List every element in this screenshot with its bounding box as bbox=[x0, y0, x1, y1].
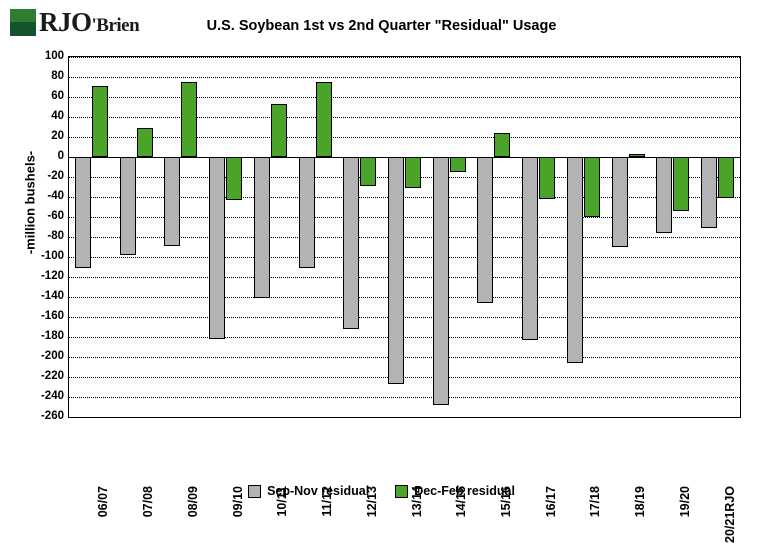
plot-area bbox=[68, 56, 741, 418]
y-tick-label: 40 bbox=[4, 110, 64, 122]
bar-15-16-dec-feb bbox=[494, 133, 510, 157]
legend-item[interactable]: Dec-Feb residual bbox=[395, 484, 515, 498]
bar-group bbox=[158, 57, 203, 417]
y-axis-tick-labels: 100806040200-20-40-60-80-100-120-140-160… bbox=[0, 56, 64, 418]
bar-14-15-sep-nov bbox=[433, 157, 449, 405]
y-tick-label: -40 bbox=[4, 190, 64, 202]
bar-19-20-sep-nov bbox=[656, 157, 672, 233]
x-axis-tick-labels: 06/0707/0808/0909/1010/1111/1212/1313/14… bbox=[68, 420, 741, 490]
y-tick-label: -20 bbox=[4, 170, 64, 182]
bar-07-08-sep-nov bbox=[120, 157, 136, 255]
bar-12-13-dec-feb bbox=[360, 157, 376, 186]
legend-label: Sep-Nov residual bbox=[267, 484, 369, 498]
bar-15-16-sep-nov bbox=[477, 157, 493, 303]
bar-20-21RJO-sep-nov bbox=[701, 157, 717, 228]
bar-13-14-sep-nov bbox=[388, 157, 404, 384]
chart-title: U.S. Soybean 1st vs 2nd Quarter "Residua… bbox=[0, 18, 763, 34]
y-tick-label: 100 bbox=[4, 50, 64, 62]
legend-swatch bbox=[248, 485, 261, 498]
y-tick-label: -100 bbox=[4, 250, 64, 262]
y-tick-label: 0 bbox=[4, 150, 64, 162]
bar-09-10-sep-nov bbox=[209, 157, 225, 339]
legend-label: Dec-Feb residual bbox=[414, 484, 515, 498]
chart-legend: Sep-Nov residualDec-Feb residual bbox=[0, 484, 763, 498]
bar-group bbox=[69, 57, 114, 417]
bar-10-11-sep-nov bbox=[254, 157, 270, 298]
bar-06-07-sep-nov bbox=[75, 157, 91, 268]
y-tick-label: -120 bbox=[4, 270, 64, 282]
bar-06-07-dec-feb bbox=[92, 86, 108, 157]
y-tick-label: -160 bbox=[4, 310, 64, 322]
y-tick-label: -60 bbox=[4, 210, 64, 222]
y-tick-label: -180 bbox=[4, 330, 64, 342]
bar-group bbox=[337, 57, 382, 417]
bar-16-17-sep-nov bbox=[522, 157, 538, 340]
y-tick-label: 60 bbox=[4, 90, 64, 102]
bar-14-15-dec-feb bbox=[450, 157, 466, 172]
bar-16-17-dec-feb bbox=[539, 157, 555, 199]
bar-17-18-dec-feb bbox=[584, 157, 600, 217]
legend-swatch bbox=[395, 485, 408, 498]
bar-08-09-dec-feb bbox=[181, 82, 197, 157]
bar-10-11-dec-feb bbox=[271, 104, 287, 157]
bar-group bbox=[427, 57, 472, 417]
bar-20-21RJO-dec-feb bbox=[718, 157, 734, 198]
bar-11-12-dec-feb bbox=[316, 82, 332, 157]
y-tick-label: 80 bbox=[4, 70, 64, 82]
bar-09-10-dec-feb bbox=[226, 157, 242, 200]
bar-group bbox=[203, 57, 248, 417]
legend-item[interactable]: Sep-Nov residual bbox=[248, 484, 369, 498]
y-tick-label: -220 bbox=[4, 370, 64, 382]
bar-group bbox=[382, 57, 427, 417]
bar-08-09-sep-nov bbox=[164, 157, 180, 246]
y-tick-label: -200 bbox=[4, 350, 64, 362]
bar-group bbox=[606, 57, 651, 417]
y-tick-label: -240 bbox=[4, 390, 64, 402]
bar-19-20-dec-feb bbox=[673, 157, 689, 211]
bar-group bbox=[516, 57, 561, 417]
bar-18-19-dec-feb bbox=[629, 154, 645, 157]
gridline bbox=[69, 417, 740, 418]
bar-11-12-sep-nov bbox=[299, 157, 315, 268]
bar-group bbox=[472, 57, 517, 417]
bar-12-13-sep-nov bbox=[343, 157, 359, 329]
bar-group bbox=[651, 57, 696, 417]
bar-group bbox=[114, 57, 159, 417]
bar-group bbox=[561, 57, 606, 417]
y-tick-label: -80 bbox=[4, 230, 64, 242]
bar-group bbox=[293, 57, 338, 417]
bar-group bbox=[695, 57, 740, 417]
y-tick-label: 20 bbox=[4, 130, 64, 142]
y-tick-label: -140 bbox=[4, 290, 64, 302]
bar-18-19-sep-nov bbox=[612, 157, 628, 247]
bar-07-08-dec-feb bbox=[137, 128, 153, 157]
y-tick-label: -260 bbox=[4, 410, 64, 422]
bar-13-14-dec-feb bbox=[405, 157, 421, 188]
bar-17-18-sep-nov bbox=[567, 157, 583, 363]
bar-group bbox=[248, 57, 293, 417]
